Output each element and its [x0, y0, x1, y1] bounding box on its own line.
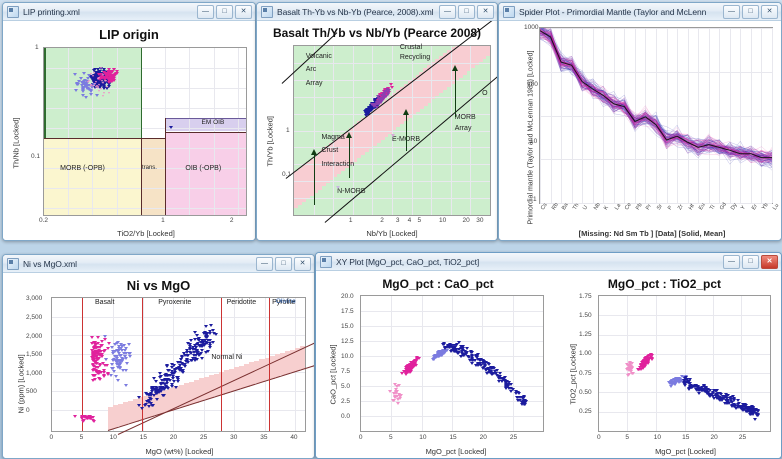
boundary-em-oib-lower — [165, 132, 246, 133]
data-point — [436, 355, 440, 358]
data-point — [459, 355, 463, 358]
data-point — [92, 75, 94, 77]
data-point — [73, 73, 77, 76]
maximize-button[interactable]: □ — [275, 257, 292, 271]
data-point — [89, 90, 93, 93]
field-region-oib — [165, 132, 246, 216]
data-point — [100, 340, 104, 343]
data-point — [106, 86, 108, 88]
data-point — [148, 397, 152, 400]
data-point — [482, 366, 486, 369]
x-tick: 20 — [710, 434, 717, 441]
x-tick: 15 — [682, 434, 689, 441]
titlebar-basalt-pearce[interactable]: Basalt Th-Yb vs Nb-Yb (Pearce, 2008).xml… — [257, 3, 497, 21]
x-category-tick: Th — [572, 203, 580, 212]
data-point — [102, 82, 104, 84]
data-point — [396, 402, 400, 405]
data-point — [470, 355, 474, 358]
y-tick: 7.5 — [341, 368, 350, 375]
x-axis-label: MgO (wt%) [Locked] — [51, 447, 308, 456]
data-point — [85, 416, 89, 419]
y-tick: 1000 — [524, 24, 538, 31]
data-point — [105, 80, 107, 82]
y-axis-label: Th/Nb [Locked] — [12, 99, 21, 169]
data-point — [729, 396, 733, 399]
x-category-tick: Hf — [688, 204, 696, 212]
x-tick: 5 — [417, 217, 421, 224]
window-body-xy-plot: MgO_pct : CaO_pct CaO_pct [Locked] MgO_p… — [316, 271, 781, 458]
data-point — [98, 90, 100, 92]
data-point — [75, 82, 79, 85]
document-icon — [7, 6, 19, 18]
boundary-horizontal-main — [44, 138, 165, 139]
data-point — [81, 420, 85, 423]
x-category-tick: U — [582, 205, 589, 212]
data-point — [114, 375, 118, 378]
spider-spectra — [540, 28, 772, 203]
data-point — [391, 134, 395, 137]
field-label-basalt: Basalt — [95, 299, 114, 306]
data-point — [642, 362, 646, 365]
x-tick: 30 — [476, 217, 483, 224]
plot-area[interactable]: VolcanicArcArrayCrustalRecyclingMagmaCru… — [293, 45, 491, 216]
x-category-tick: P — [667, 205, 674, 211]
data-point — [110, 346, 114, 349]
y-tick: 2,000 — [26, 333, 42, 340]
titlebar-ni-vs-mgo[interactable]: Ni vs MgO.xml — □ ✕ — [3, 255, 314, 273]
data-point — [518, 396, 522, 399]
data-point — [196, 342, 200, 345]
x-category-tick: Er — [751, 204, 759, 212]
spider-plot-icon — [503, 6, 515, 18]
data-point — [646, 360, 650, 363]
y-tick: 1.25 — [579, 331, 592, 338]
data-point — [112, 68, 116, 71]
window-body-basalt-pearce: Basalt Th/Yb vs Nb/Yb (Pearce 2008) Th/Y… — [257, 21, 497, 240]
plot-area-mgo-cao[interactable]: 20.017.515.012.510.07.55.02.50.005101520… — [360, 295, 544, 432]
maximize-button[interactable]: □ — [216, 5, 233, 19]
close-button[interactable]: ✕ — [477, 5, 494, 19]
close-button[interactable]: ✕ — [761, 255, 778, 269]
data-point — [174, 386, 178, 389]
y-tick: 0.75 — [579, 370, 592, 377]
data-point — [110, 367, 114, 370]
window-basalt-pearce[interactable]: Basalt Th-Yb vs Nb-Yb (Pearce, 2008).xml… — [256, 2, 498, 241]
data-point — [400, 372, 404, 375]
data-point — [104, 358, 108, 361]
data-point — [375, 106, 379, 109]
data-point — [74, 89, 78, 92]
y-tick: 10.0 — [341, 353, 354, 360]
data-point — [172, 372, 176, 375]
data-point — [200, 357, 204, 360]
data-point — [626, 374, 630, 377]
data-point — [193, 338, 197, 341]
x-tick: 2 — [230, 217, 234, 224]
x-tick: 20 — [480, 434, 487, 441]
data-point — [97, 357, 101, 360]
x-category-tick: La — [614, 203, 622, 211]
x-tick: 10 — [110, 434, 117, 441]
minimize-button[interactable]: — — [439, 5, 456, 19]
x-tick: 0 — [359, 434, 363, 441]
plot-area[interactable]: 1000100101CsRbBaThUNbKLaCePbPrSrPZrHfEuT… — [539, 27, 773, 204]
data-point — [90, 349, 94, 352]
data-point — [631, 372, 635, 375]
data-point — [110, 71, 114, 74]
x-axis-label-mgo-right: MgO_pct [Locked] — [598, 447, 773, 456]
field-divider — [82, 298, 83, 431]
data-point — [736, 405, 740, 408]
x-tick: 35 — [260, 434, 267, 441]
x-tick: 10 — [419, 434, 426, 441]
x-tick: 4 — [408, 217, 412, 224]
x-tick: 1 — [161, 217, 165, 224]
data-point — [185, 349, 189, 352]
field-label-em-oib: EM OIB — [202, 119, 225, 126]
boundary-right-green — [141, 48, 143, 138]
x-category-tick: Sr — [656, 204, 664, 212]
x-tick: 5 — [625, 434, 629, 441]
field-label-oib: OIB (-OPB) — [185, 165, 221, 172]
x-tick: 10 — [654, 434, 661, 441]
data-point — [368, 108, 372, 111]
x-category-tick: Ce — [624, 202, 633, 211]
data-point — [84, 96, 88, 99]
data-point — [650, 357, 654, 360]
x-tick: 3 — [396, 217, 400, 224]
data-point — [397, 384, 401, 387]
data-point — [85, 85, 89, 88]
plot-area[interactable]: BasaltPyroxenitePeridotitePyroliteOlivin… — [51, 297, 306, 432]
annotation-oib-clipped: O — [482, 90, 487, 97]
data-point — [504, 385, 508, 388]
x-category-tick: Ti — [709, 205, 716, 212]
field-label-olivine: Olivine — [276, 298, 296, 305]
data-point — [165, 374, 169, 377]
minimize-button[interactable]: — — [723, 5, 740, 19]
titlebar-spider-plot[interactable]: Spider Plot - Primordial Mantle (Taylor … — [499, 3, 781, 21]
annotation-recycling: Recycling — [400, 54, 430, 61]
window-body-ni-vs-mgo: Ni vs MgO Ni (ppm) [Locked] MgO (wt%) [L… — [3, 273, 314, 458]
data-point — [124, 384, 128, 387]
data-point — [493, 370, 497, 373]
data-point — [208, 346, 212, 349]
data-point — [155, 398, 159, 401]
document-icon — [7, 258, 19, 270]
data-point — [165, 365, 169, 368]
data-point — [690, 386, 694, 389]
data-point — [460, 347, 464, 350]
maximize-button[interactable]: □ — [742, 255, 759, 269]
x-tick: 1 — [349, 217, 353, 224]
data-point — [195, 351, 199, 354]
data-point — [103, 335, 107, 338]
x-tick: 5 — [80, 434, 84, 441]
document-icon — [320, 256, 332, 268]
data-point — [100, 67, 102, 69]
data-point — [118, 366, 122, 369]
maximize-button[interactable]: □ — [742, 5, 759, 19]
window-body-lip-printing: LIP origin Th/Nb [Locked] TiO2/Yb [Locke… — [3, 21, 255, 240]
x-tick: 15 — [140, 434, 147, 441]
data-point — [484, 369, 488, 372]
data-point — [117, 347, 121, 350]
window-title: XY Plot [MgO_pct, CaO_pct, TiO2_pct] — [336, 257, 723, 267]
titlebar-xy-plot[interactable]: XY Plot [MgO_pct, CaO_pct, TiO2_pct] — □… — [316, 253, 781, 271]
data-point — [137, 404, 141, 407]
data-point — [127, 343, 131, 346]
data-point — [116, 379, 120, 382]
window-controls[interactable]: — □ ✕ — [197, 5, 253, 19]
data-point — [448, 343, 452, 346]
annotation-morb: MORB — [455, 114, 476, 121]
y-tick: 17.5 — [341, 308, 354, 315]
close-button[interactable]: ✕ — [294, 257, 311, 271]
y-tick: 2.5 — [341, 398, 350, 405]
x-tick: 10 — [439, 217, 446, 224]
field-divider — [221, 298, 222, 431]
data-point — [395, 395, 399, 398]
data-point — [97, 78, 99, 80]
data-point — [193, 357, 197, 360]
data-point — [96, 336, 100, 339]
x-category-tick: Dy — [730, 203, 739, 212]
data-point — [702, 384, 706, 387]
field-label-trans: trans. — [142, 165, 157, 171]
data-point — [687, 380, 691, 383]
y-tick: 1,000 — [26, 370, 42, 377]
data-point — [745, 407, 749, 410]
data-point — [162, 387, 166, 390]
data-point — [625, 363, 629, 366]
data-point — [212, 332, 216, 335]
data-point — [95, 81, 97, 83]
annotation-n-morb: N-MORB — [337, 188, 365, 195]
data-point — [97, 86, 99, 88]
minimize-button[interactable]: — — [723, 255, 740, 269]
data-point — [753, 418, 757, 421]
data-point — [90, 336, 94, 339]
window-lip-printing[interactable]: LIP printing.xml — □ ✕ LIP origin Th/Nb … — [2, 2, 256, 241]
field-label-peridotite: Peridotite — [227, 299, 257, 306]
y-tick: 0.50 — [579, 389, 592, 396]
y-tick: 1.50 — [579, 312, 592, 319]
y-axis-label-tio2: TiO2_pct [Locked] — [569, 335, 578, 405]
data-point — [202, 344, 206, 347]
field-divider — [269, 298, 270, 431]
data-point — [144, 392, 148, 395]
data-point — [756, 414, 760, 417]
data-point — [464, 352, 468, 355]
data-point — [161, 382, 165, 385]
x-tick: 40 — [290, 434, 297, 441]
data-point — [119, 359, 123, 362]
window-controls[interactable]: — □ ✕ — [723, 5, 779, 19]
window-spider-plot[interactable]: Spider Plot - Primordial Mantle (Taylor … — [498, 2, 782, 241]
window-xy-plot[interactable]: XY Plot [MgO_pct, CaO_pct, TiO2_pct] — □… — [315, 252, 782, 459]
data-point — [503, 379, 507, 382]
data-point — [113, 355, 117, 358]
data-point — [96, 352, 100, 355]
y-tick: 0.1 — [282, 171, 291, 178]
boundary-vertical-trans-left — [141, 138, 142, 215]
x-axis-label: [Missing: Nd Sm Tb ] [Data] [Solid, Mean… — [529, 229, 775, 238]
maximize-button[interactable]: □ — [458, 5, 475, 19]
data-point — [118, 354, 122, 357]
data-point — [180, 356, 184, 359]
chart-title-mgo-cao: MgO_pct : CaO_pct — [324, 277, 552, 291]
data-point — [124, 347, 128, 350]
field-region-trans — [141, 138, 165, 215]
close-button[interactable]: ✕ — [761, 5, 778, 19]
data-point — [164, 378, 168, 381]
data-point — [376, 103, 380, 106]
window-title: Ni vs MgO.xml — [23, 259, 256, 269]
annotation-crust: Crust — [321, 147, 338, 154]
y-axis-label: Primordial mantle (Taylor and McLennan 1… — [528, 25, 535, 225]
y-tick: 1,500 — [26, 351, 42, 358]
data-point — [109, 374, 113, 377]
y-tick: 10 — [530, 138, 537, 145]
x-tick: 5 — [389, 434, 393, 441]
data-point — [487, 367, 491, 370]
annotation-array: Array — [306, 80, 323, 87]
y-tick: 1 — [533, 196, 537, 203]
boundary-vertical-trans-right — [165, 118, 166, 215]
annotation-crustal: Crustal — [400, 44, 422, 51]
y-axis-label-cao: CaO_pct [Locked] — [329, 335, 338, 405]
data-point — [97, 377, 101, 380]
y-tick: 20.0 — [341, 293, 354, 300]
data-point — [115, 361, 119, 364]
window-body-spider-plot: Primordial mantle (Taylor and McLennan 1… — [499, 21, 781, 240]
window-title: Spider Plot - Primordial Mantle (Taylor … — [519, 7, 723, 17]
titlebar-lip-printing[interactable]: LIP printing.xml — □ ✕ — [3, 3, 255, 21]
data-point — [682, 379, 686, 382]
data-point — [365, 112, 369, 115]
x-category-tick: Ba — [561, 203, 570, 212]
data-point — [124, 369, 128, 372]
y-tick: 15.0 — [341, 323, 354, 330]
data-point — [672, 382, 676, 385]
data-point — [677, 377, 681, 380]
data-point — [523, 403, 527, 406]
data-point — [393, 383, 397, 386]
data-point — [507, 383, 511, 386]
chart-title: LIP origin — [3, 27, 255, 42]
window-title: LIP printing.xml — [23, 7, 197, 17]
window-controls[interactable]: — □ ✕ — [723, 255, 779, 269]
data-point — [470, 362, 474, 365]
data-point — [391, 399, 395, 402]
y-tick: 0.1 — [31, 153, 40, 160]
data-point — [99, 371, 103, 374]
data-point — [112, 79, 116, 82]
window-controls[interactable]: — □ ✕ — [439, 5, 495, 19]
data-point — [169, 126, 173, 129]
data-point — [87, 81, 89, 83]
data-point — [95, 86, 97, 88]
x-category-tick: Pr — [645, 204, 653, 212]
data-point — [154, 380, 158, 383]
annotation-normal-ni: Normal Ni — [211, 354, 242, 361]
field-divider — [142, 298, 143, 431]
plot-area[interactable]: MORB (-OPB)trans.OIB (-OPB)EM OIB10.10.2… — [43, 47, 247, 216]
close-button[interactable]: ✕ — [235, 5, 252, 19]
data-point — [209, 324, 213, 327]
data-point — [100, 88, 102, 90]
data-point — [457, 351, 461, 354]
window-ni-vs-mgo[interactable]: Ni vs MgO.xml — □ ✕ Ni vs MgO Ni (ppm) [… — [2, 254, 315, 459]
data-point — [176, 361, 180, 364]
x-tick: 25 — [739, 434, 746, 441]
minimize-button[interactable]: — — [197, 5, 214, 19]
window-title: Basalt Th-Yb vs Nb-Yb (Pearce, 2008).xml — [277, 7, 439, 17]
boundary-left-green — [44, 48, 46, 138]
data-point — [483, 362, 487, 365]
minimize-button[interactable]: — — [256, 257, 273, 271]
data-point — [176, 378, 180, 381]
x-tick: 2 — [380, 217, 384, 224]
x-tick: 20 — [463, 217, 470, 224]
data-point — [378, 100, 382, 103]
x-tick: 0.2 — [39, 217, 48, 224]
data-point — [107, 342, 111, 345]
data-point — [697, 392, 701, 395]
window-controls[interactable]: — □ ✕ — [256, 257, 312, 271]
data-point — [102, 74, 104, 76]
x-category-tick: Cs — [540, 203, 549, 212]
y-axis-label: Th/Yb [Locked] — [266, 101, 275, 167]
data-point — [102, 95, 104, 97]
x-axis-label: TiO2/Yb [Locked] — [43, 229, 249, 238]
x-category-tick: Gd — [719, 202, 728, 211]
data-point — [180, 370, 184, 373]
data-point — [93, 378, 97, 381]
data-point — [750, 409, 754, 412]
y-tick: 1.00 — [579, 350, 592, 357]
data-point — [204, 325, 208, 328]
plot-area-mgo-tio2[interactable]: 1.751.501.251.000.750.500.250510152025 — [598, 295, 771, 432]
y-tick: 2,500 — [26, 314, 42, 321]
data-point — [715, 389, 719, 392]
data-point — [105, 364, 109, 367]
data-point — [336, 186, 340, 189]
data-point — [103, 92, 105, 94]
data-point — [82, 80, 86, 83]
data-point — [97, 73, 101, 76]
y-tick: 1.75 — [579, 293, 592, 300]
data-point — [73, 415, 77, 418]
data-point — [475, 355, 479, 358]
data-point — [514, 392, 518, 395]
data-point — [108, 92, 110, 94]
data-point — [407, 369, 411, 372]
data-point — [707, 394, 711, 397]
data-point — [93, 72, 95, 74]
data-point — [718, 399, 722, 402]
data-point — [511, 388, 515, 391]
data-point — [182, 352, 186, 355]
x-axis-label-mgo-left: MgO_pct [Locked] — [360, 447, 552, 456]
data-point — [708, 389, 712, 392]
data-point — [150, 387, 154, 390]
y-tick: 1 — [286, 127, 290, 134]
data-point — [123, 355, 127, 358]
data-point — [415, 357, 419, 360]
data-point — [92, 346, 96, 349]
